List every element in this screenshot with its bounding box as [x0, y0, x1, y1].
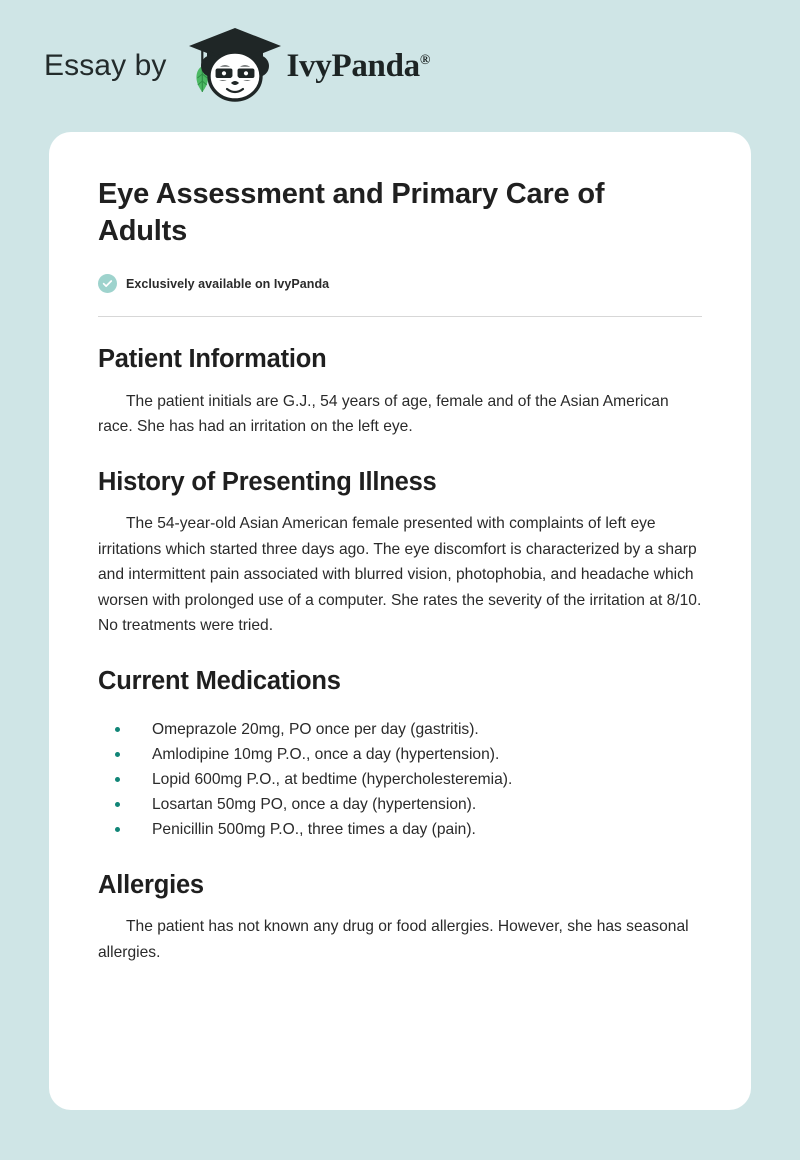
- bullet-icon: [115, 827, 120, 832]
- essay-by-label: Essay by: [44, 51, 167, 81]
- section-paragraph-history-of-presenting-illness: The 54-year-old Asian American female pr…: [98, 511, 702, 639]
- exclusive-availability-label: Exclusively available on IvyPanda: [126, 277, 329, 291]
- panda-graduate-logo-icon: [185, 30, 285, 102]
- bullet-icon: [115, 777, 120, 782]
- bullet-icon: [115, 752, 120, 757]
- document-card: Eye Assessment and Primary Care of Adult…: [49, 132, 751, 1110]
- check-circle-icon: [98, 274, 117, 293]
- section-paragraph-allergies: The patient has not known any drug or fo…: [98, 914, 702, 965]
- list-item: Amlodipine 10mg P.O., once a day (hypert…: [115, 742, 702, 767]
- section-heading-history-of-presenting-illness: History of Presenting Illness: [98, 467, 702, 498]
- list-item-label: Lopid 600mg P.O., at bedtime (hyperchole…: [152, 771, 512, 788]
- status-badge: Exclusively available on IvyPanda: [98, 274, 702, 293]
- list-item: Losartan 50mg PO, once a day (hypertensi…: [115, 792, 702, 817]
- header-divider: [98, 316, 702, 317]
- bullet-icon: [115, 727, 120, 732]
- list-item-label: Penicillin 500mg P.O., three times a day…: [152, 821, 476, 838]
- list-item: Omeprazole 20mg, PO once per day (gastri…: [115, 717, 702, 742]
- brand-name-text: IvyPanda: [287, 48, 420, 84]
- list-item: Penicillin 500mg P.O., three times a day…: [115, 817, 702, 842]
- section-heading-patient-information: Patient Information: [98, 344, 702, 375]
- list-item-label: Omeprazole 20mg, PO once per day (gastri…: [152, 721, 479, 738]
- bullet-icon: [115, 802, 120, 807]
- current-medications-list: Omeprazole 20mg, PO once per day (gastri…: [98, 717, 702, 843]
- list-item-label: Amlodipine 10mg P.O., once a day (hypert…: [152, 746, 499, 763]
- section-paragraph-patient-information: The patient initials are G.J., 54 years …: [98, 389, 702, 440]
- list-item-label: Losartan 50mg PO, once a day (hypertensi…: [152, 796, 476, 813]
- registered-trademark-mark: ®: [420, 53, 430, 68]
- page-title: Eye Assessment and Primary Care of Adult…: [98, 176, 698, 250]
- section-heading-current-medications: Current Medications: [98, 666, 702, 697]
- list-item: Lopid 600mg P.O., at bedtime (hyperchole…: [115, 767, 702, 792]
- section-heading-allergies: Allergies: [98, 870, 702, 901]
- brand-header: Essay by: [0, 0, 800, 132]
- brand-wordmark: IvyPanda®: [287, 50, 430, 83]
- ivypanda-logo-link[interactable]: IvyPanda®: [185, 30, 430, 102]
